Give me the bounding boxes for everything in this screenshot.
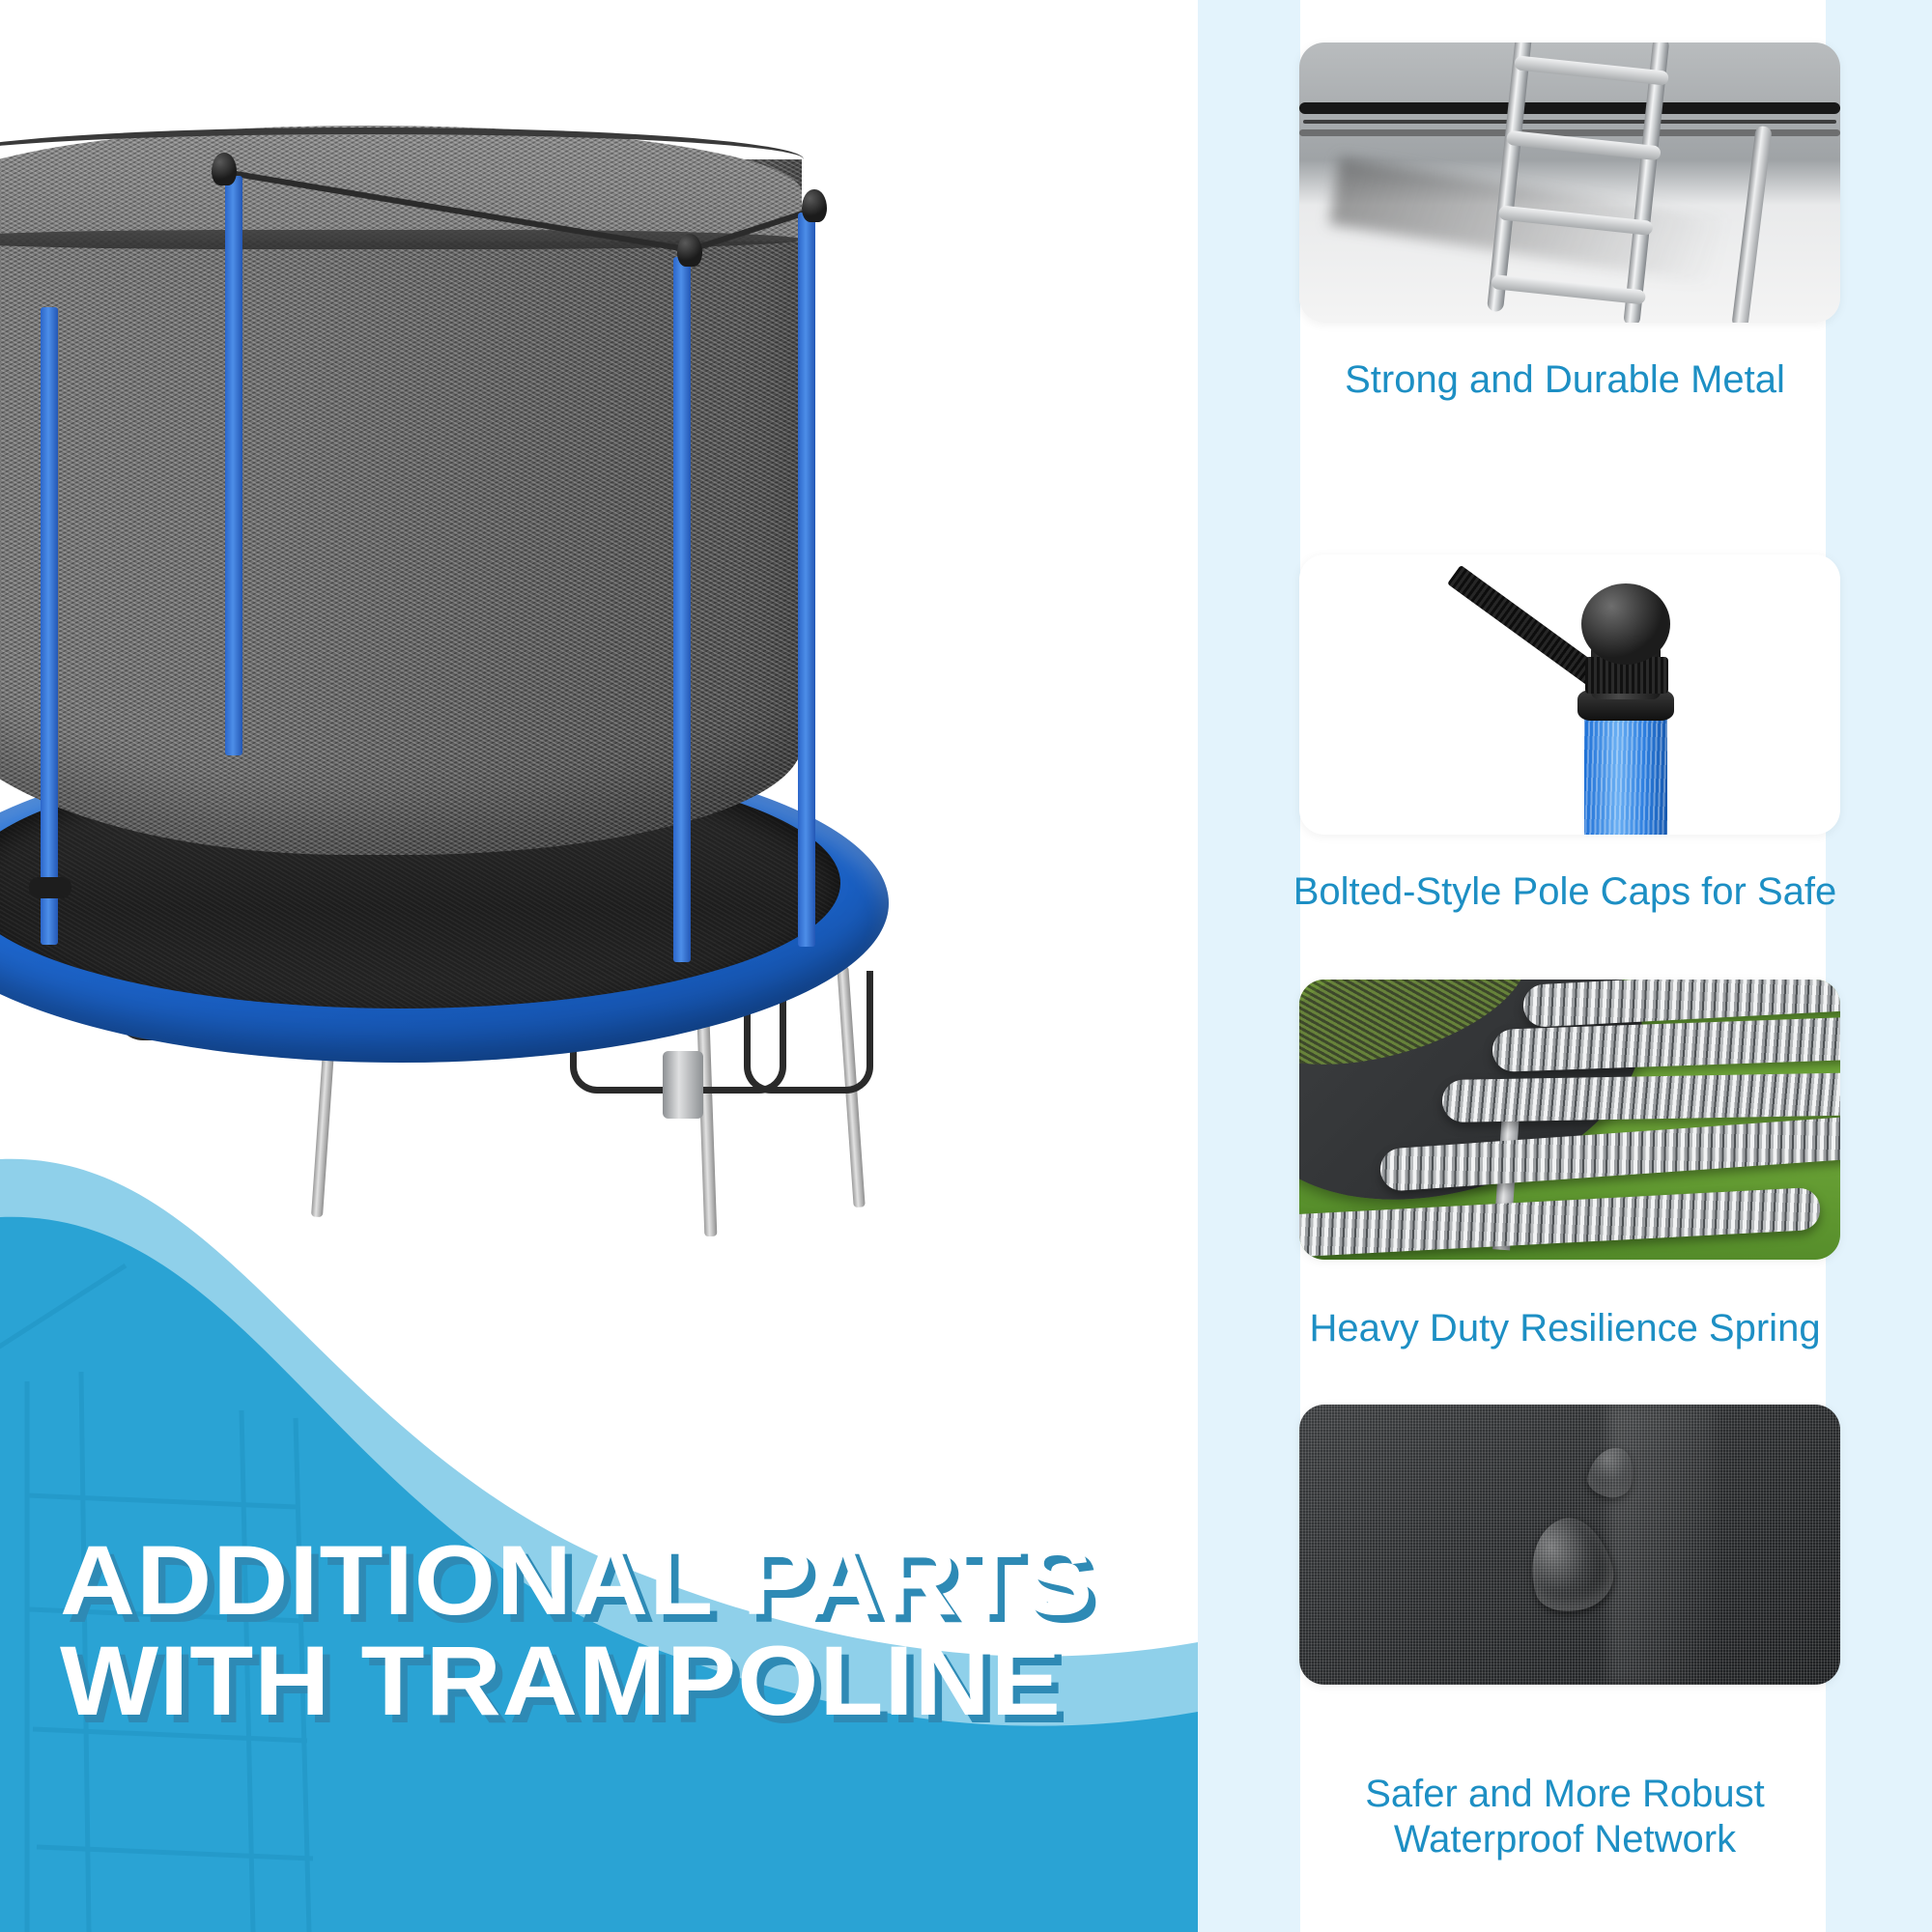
pole-cap-icon [212, 153, 237, 185]
hero-panel: ADDITIONAL PARTS WITH TRAMPOLINE [0, 0, 1198, 1932]
feature-rail: Strong and Durable Metal Bolted-Style Po… [1198, 0, 1932, 1932]
pole-cap-icon [802, 189, 827, 222]
feature-caption-1: Strong and Durable Metal [1198, 357, 1932, 403]
product-feature-graphic: ADDITIONAL PARTS WITH TRAMPOLINE [0, 0, 1932, 1932]
feature-caption-4: Safer and More Robust Waterproof Network [1198, 1772, 1932, 1862]
thumb-bolted-style-pole-caps[interactable] [1299, 554, 1840, 835]
pole-lower-tube [663, 1051, 703, 1119]
feature-caption-4-line-2: Waterproof Network [1394, 1818, 1736, 1861]
ladder-rung [1491, 274, 1646, 305]
page-title: ADDITIONAL PARTS WITH TRAMPOLINE [60, 1530, 1198, 1731]
headline-line-2: WITH TRAMPOLINE [60, 1631, 1198, 1731]
trampoline-illustration [0, 68, 956, 1150]
headline-banner [0, 1063, 1198, 1932]
ladder-rail-left [1487, 43, 1533, 312]
ladder-rung [1514, 55, 1669, 86]
pole-ball-cap-icon [1581, 583, 1670, 665]
enclosure-pole-foam [41, 307, 58, 945]
safety-net-rim [0, 128, 804, 159]
thumb-strong-durable-metal[interactable] [1299, 43, 1840, 323]
enclosure-pole-foam [673, 257, 691, 962]
ladder-icon [1477, 43, 1740, 323]
enclosure-pole-foam [798, 213, 815, 947]
feature-caption-4-line-1: Safer and More Robust [1365, 1773, 1765, 1815]
pole-clip [29, 877, 71, 898]
feature-caption-3: Heavy Duty Resilience Spring [1198, 1306, 1932, 1351]
thumb-heavy-duty-resilience-spring[interactable] [1299, 980, 1840, 1260]
ladder-rung [1498, 205, 1654, 236]
water-droplet-icon [1518, 1509, 1621, 1620]
headline-line-1: ADDITIONAL PARTS [60, 1530, 1198, 1631]
ladder-rung [1506, 130, 1662, 161]
feature-caption-2: Bolted-Style Pole Caps for Safe [1198, 869, 1932, 915]
pole-cap-icon [677, 234, 702, 267]
enclosure-pole-foam [225, 176, 242, 755]
frame-leg-pipe [1731, 126, 1772, 323]
fabric-sheen [1608, 1405, 1715, 1685]
spring-icon [1442, 1072, 1840, 1122]
pole-foam-sleeve [1584, 701, 1667, 835]
thumb-waterproof-network[interactable] [1299, 1405, 1840, 1685]
